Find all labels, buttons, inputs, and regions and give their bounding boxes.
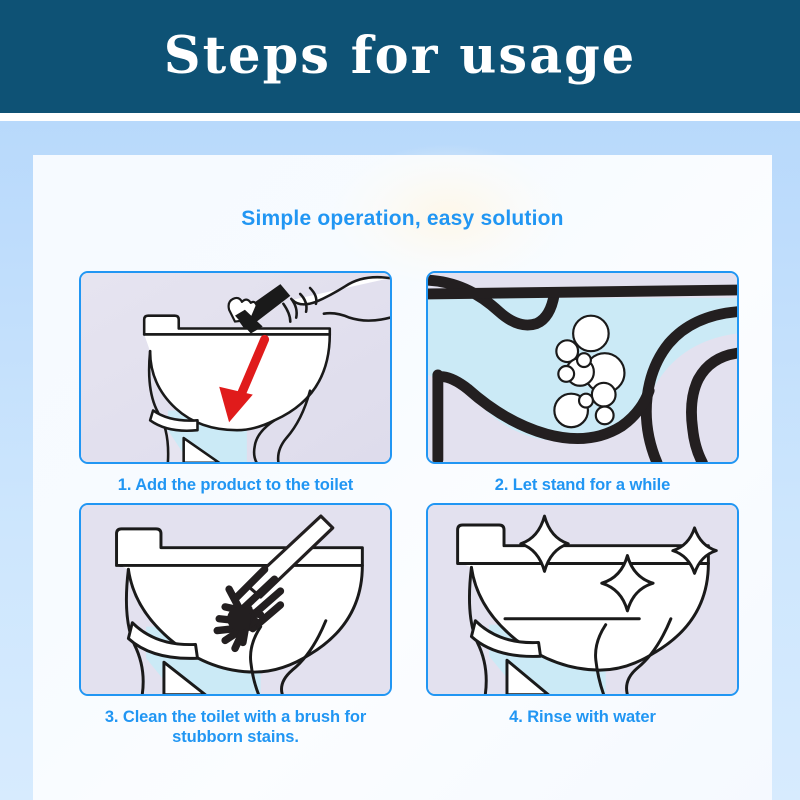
header-banner: Steps for usage (0, 0, 800, 113)
step-caption-4: 4. Rinse with water (426, 708, 739, 728)
step-caption-1: 1. Add the product to the toilet (79, 476, 392, 496)
steps-grid: 1. Add the product to the toilet (79, 271, 739, 747)
step-caption-3: 3. Clean the toilet with a brush for stu… (79, 708, 392, 748)
step-illustration-1 (79, 271, 392, 464)
step-caption-2: 2. Let stand for a while (426, 476, 739, 496)
content-card: Simple operation, easy solution (33, 155, 772, 800)
page-root: Steps for usage Simple operation, easy s… (0, 0, 800, 800)
step-illustration-4 (426, 503, 739, 696)
steps-row-1: 1. Add the product to the toilet (79, 271, 739, 496)
step-cell-2: 2. Let stand for a while (426, 271, 739, 496)
step-cell-3: 3. Clean the toilet with a brush for stu… (79, 503, 392, 748)
body-background: Simple operation, easy solution (0, 119, 800, 800)
step-cell-4: 4. Rinse with water (426, 503, 739, 748)
section-heading: Simple operation, easy solution (33, 207, 772, 231)
page-title: Steps for usage (164, 31, 637, 82)
step-illustration-3 (79, 503, 392, 696)
step-cell-1: 1. Add the product to the toilet (79, 271, 392, 496)
steps-row-2: 3. Clean the toilet with a brush for stu… (79, 503, 739, 748)
step-illustration-2 (426, 271, 739, 464)
